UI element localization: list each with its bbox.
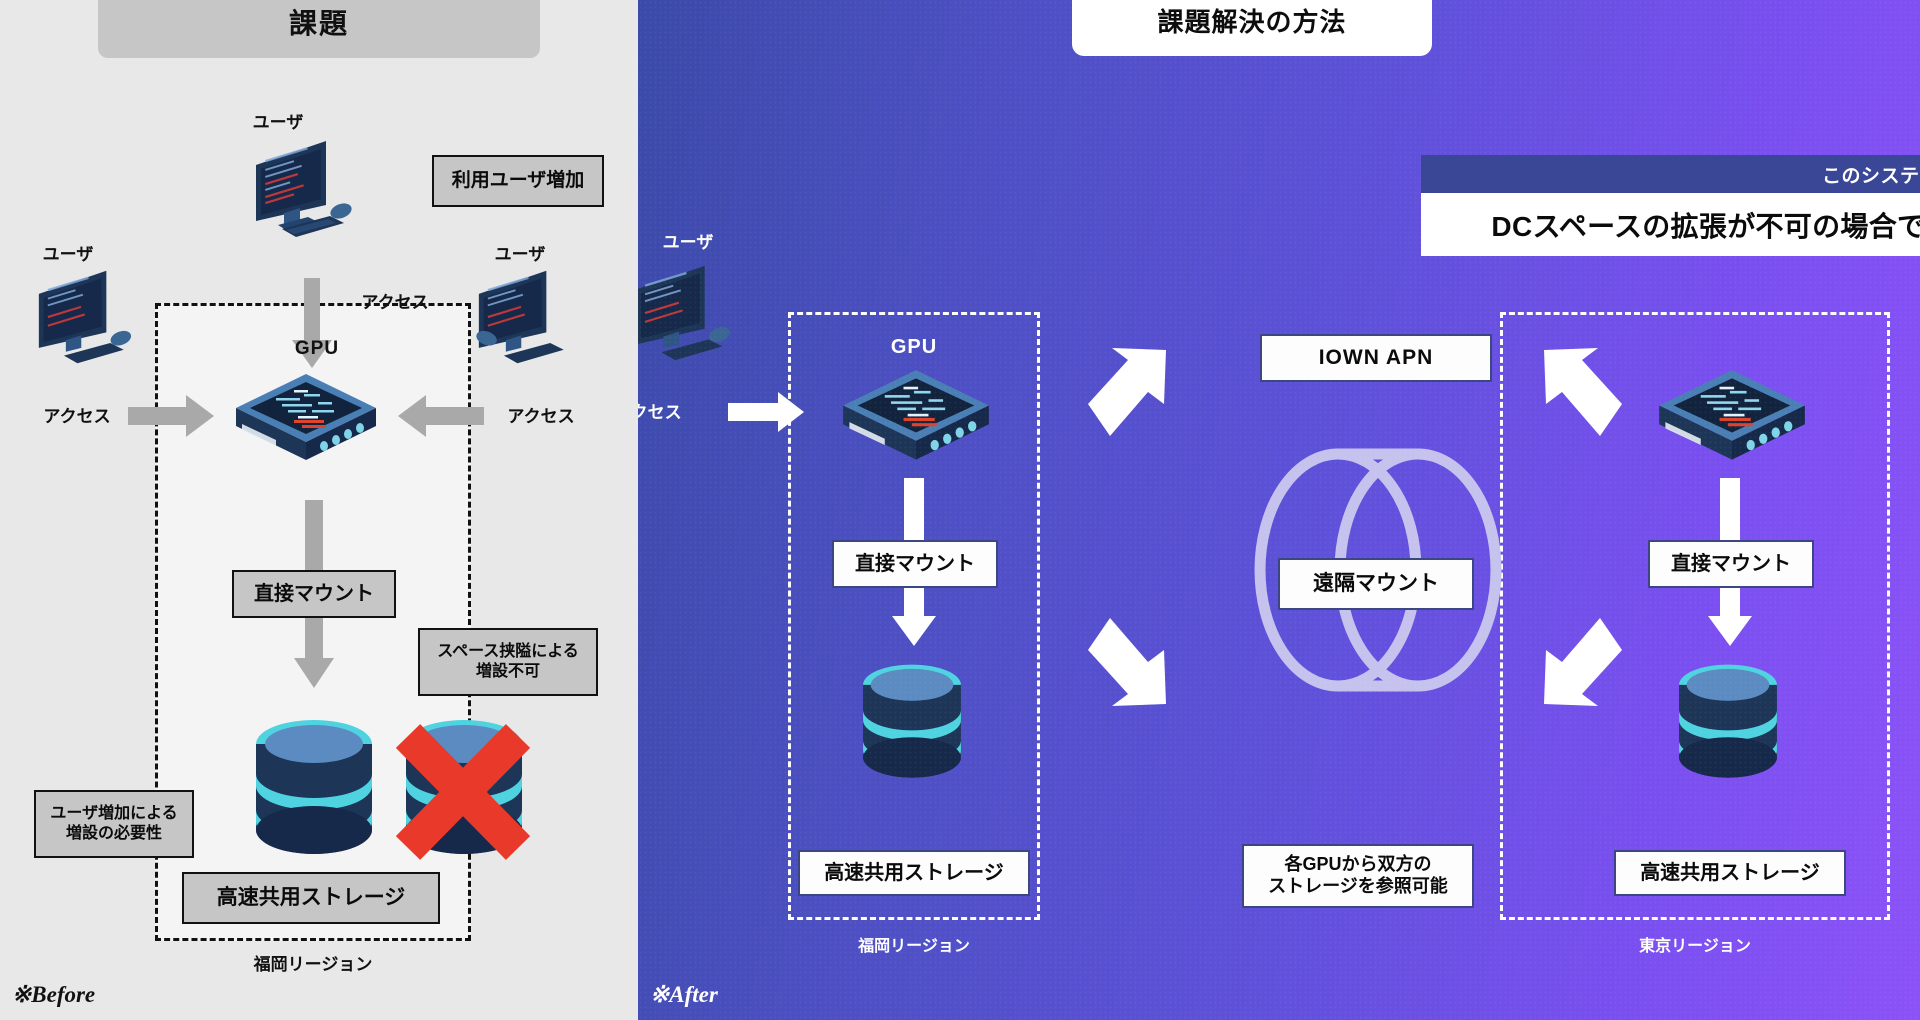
arrow-downright-white — [1088, 612, 1192, 708]
box-storage: 高速共用ストレージ — [182, 872, 440, 924]
desktop-monitor-icon — [638, 258, 746, 368]
infographic-root: 課題 福岡リージョン ユーザ ユーザ ユーザ — [0, 0, 1920, 1020]
after-region-fukuoka-label: 福岡リージョン — [788, 932, 1040, 956]
box-both-refer: 各GPUから双方の ストレージを参照可能 — [1242, 844, 1474, 908]
desktop-monitor-icon — [248, 133, 368, 245]
database-cylinder-icon — [250, 718, 378, 858]
box-direct-mount-left: 直接マウント — [832, 540, 998, 588]
after-panel-title: 課題解決の方法 — [1072, 0, 1432, 56]
arrow-right-white — [728, 390, 806, 434]
gpu-label: GPU — [272, 338, 362, 360]
arrow-right-grey — [128, 393, 216, 439]
merit-banner-header: このシステム構成のメリット — [1421, 155, 1920, 193]
access-label-top: アクセス — [340, 288, 450, 313]
before-panel-title: 課題 — [98, 0, 540, 58]
access-label-left: アクセス — [22, 402, 132, 427]
access-label: アクセス — [638, 398, 728, 423]
user-label-left: ユーザ — [28, 240, 108, 265]
user-label-top: ユーザ — [238, 108, 318, 133]
box-user-increase: 利用ユーザ増加 — [432, 155, 604, 207]
after-region-tokyo-label: 東京リージョン — [1500, 932, 1890, 956]
user-label-right: ユーザ — [480, 240, 560, 265]
box-storage-left: 高速共用ストレージ — [798, 850, 1030, 896]
desktop-monitor-icon — [30, 263, 148, 371]
arrow-upleft-white — [1518, 348, 1622, 444]
user-label: ユーザ — [638, 228, 798, 253]
red-cross-icon — [386, 716, 540, 868]
arrow-left-grey — [398, 393, 486, 439]
arrow-downleft-white — [1518, 612, 1622, 708]
database-cylinder-icon — [1674, 662, 1782, 782]
gpu-server-icon — [232, 372, 380, 470]
arrow-upright-white — [1088, 348, 1192, 444]
after-footnote: ※After — [650, 982, 718, 1008]
box-direct-mount-right: 直接マウント — [1648, 540, 1814, 588]
box-need-expand: ユーザ増加による 増設の必要性 — [34, 790, 194, 858]
box-remote-mount: 遠隔マウント — [1278, 558, 1474, 610]
merit-banner-text: DCスペースの拡張が不可の場合でも、場所を問わない設備増設が可能。 — [1421, 193, 1920, 256]
before-region-label: 福岡リージョン — [155, 950, 471, 975]
box-storage-right: 高速共用ストレージ — [1614, 850, 1846, 896]
box-iown-apn: IOWN APN — [1260, 334, 1492, 382]
gpu-server-icon — [1654, 368, 1810, 470]
box-space-limit: スペース挟隘による 増設不可 — [418, 628, 598, 696]
desktop-monitor-icon — [470, 263, 588, 371]
access-label-right: アクセス — [486, 402, 596, 427]
gpu-server-icon — [838, 368, 994, 470]
after-panel: 福岡リージョン 東京リージョン ユーザ — [638, 0, 1920, 1020]
database-cylinder-icon — [858, 662, 966, 782]
gpu-label-left: GPU — [834, 336, 994, 359]
before-panel: 課題 福岡リージョン ユーザ ユーザ ユーザ — [0, 0, 638, 1020]
box-direct-mount: 直接マウント — [232, 570, 396, 618]
before-footnote: ※Before — [12, 982, 95, 1008]
